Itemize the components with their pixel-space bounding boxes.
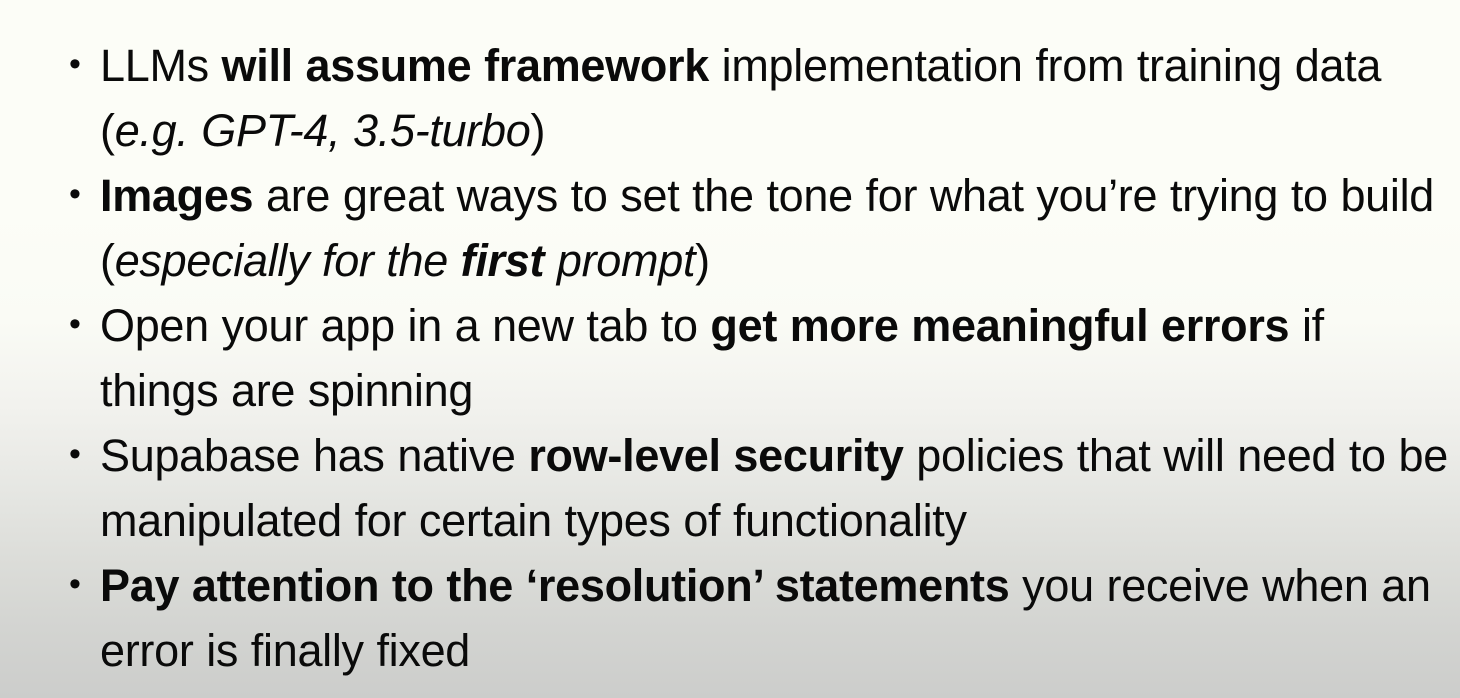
bullet-point-icon: • <box>69 33 83 98</box>
bullet-text: LLMs will assume framework implementatio… <box>100 40 1381 156</box>
bullet-point-icon: • <box>69 293 83 358</box>
slide-canvas: •LLMs will assume framework implementati… <box>0 0 1460 698</box>
text-run: LLMs <box>100 40 222 91</box>
text-run: first <box>461 235 545 286</box>
text-run: prompt <box>544 235 695 286</box>
bullet-text: Images are great ways to set the tone fo… <box>100 170 1434 286</box>
bullet-point-icon: • <box>69 163 83 228</box>
bullet-item-open-app-new-tab: •Open your app in a new tab to get more … <box>68 293 1450 423</box>
bullet-text: Open your app in a new tab to get more m… <box>100 300 1324 416</box>
bullet-text: Supabase has native row-level security p… <box>100 430 1448 546</box>
bullet-point-icon: • <box>69 423 83 488</box>
bullet-item-images-set-the-tone: •Images are great ways to set the tone f… <box>68 163 1450 293</box>
bullet-item-supabase-row-level-security: •Supabase has native row-level security … <box>68 423 1450 553</box>
bullet-text: Pay attention to the ‘resolution’ statem… <box>100 560 1431 676</box>
text-run: Images <box>100 170 253 221</box>
text-run: ) <box>695 235 710 286</box>
text-run: Open your app in a new tab to <box>100 300 710 351</box>
text-run: Supabase has native <box>100 430 528 481</box>
bullet-item-resolution-statements: •Pay attention to the ‘resolution’ state… <box>68 553 1450 683</box>
text-run: will assume framework <box>222 40 709 91</box>
text-run: e.g. GPT-4, 3.5-turbo <box>115 105 531 156</box>
bullet-item-llms-assume-framework: •LLMs will assume framework implementati… <box>68 33 1450 163</box>
bullet-point-icon: • <box>69 553 83 618</box>
bullet-list: •LLMs will assume framework implementati… <box>0 0 1460 698</box>
text-run: especially for the <box>115 235 461 286</box>
text-run: row-level security <box>528 430 903 481</box>
text-run: get more meaningful errors <box>710 300 1289 351</box>
text-run: Pay attention to the ‘resolution’ statem… <box>100 560 1009 611</box>
text-run: ) <box>530 105 545 156</box>
